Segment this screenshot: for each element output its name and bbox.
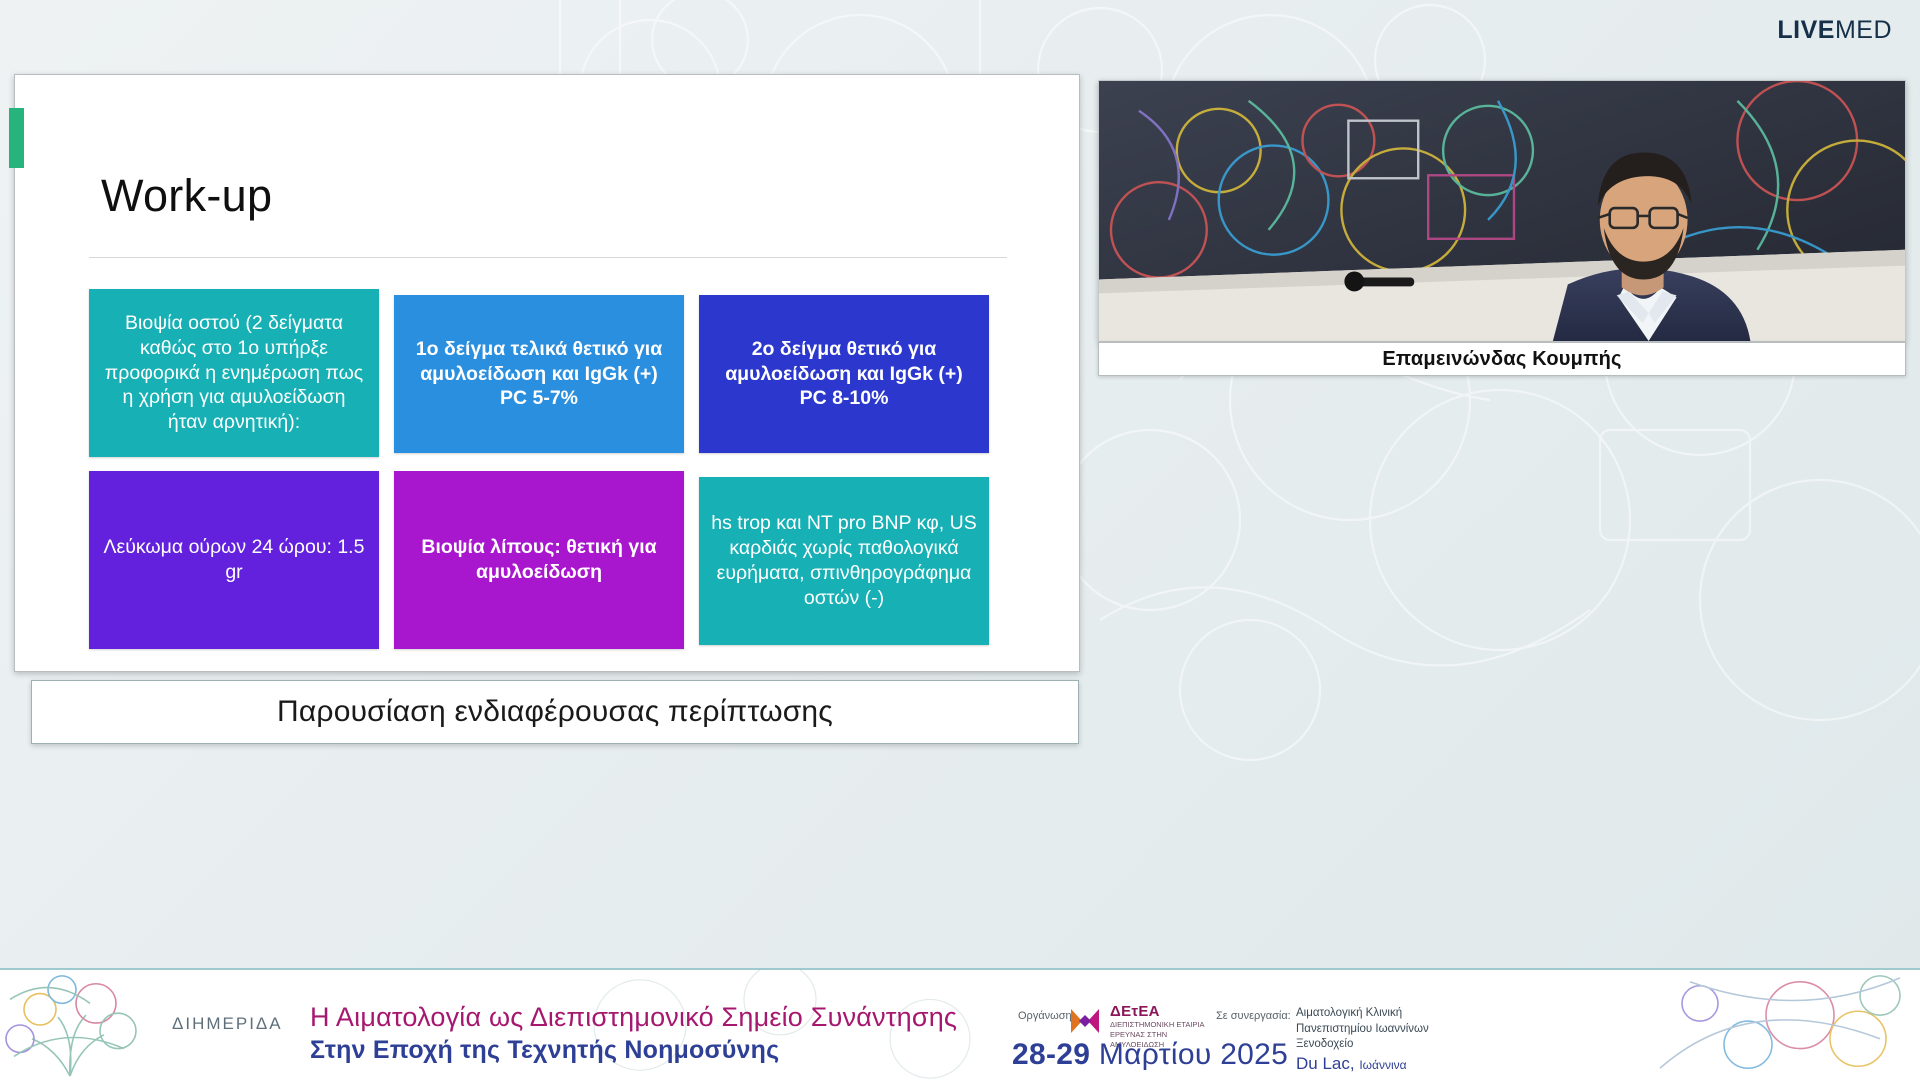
speaker-video[interactable] <box>1098 80 1906 342</box>
footer-title-line2: Στην Εποχή της Τεχνητής Νοημοσύνης <box>310 1036 779 1065</box>
footer-venue-name: Du Lac, <box>1296 1054 1355 1073</box>
logo-regular-part: MED <box>1835 16 1892 44</box>
footer-cooperation-label: Σε συνεργασία: <box>1216 1010 1291 1022</box>
workup-box-text: 2ο δείγμα θετικό για αμυλοείδωση και IgG… <box>711 337 977 412</box>
footer-decoration <box>0 970 1920 1080</box>
workup-box: Βιοψία λίπους: θετική για αμυλοείδωση <box>394 471 684 649</box>
workup-box: 1ο δείγμα τελικά θετικό για αμυλοείδωση … <box>394 295 684 453</box>
footer-organizer-label: Οργάνωση: <box>1018 1010 1075 1022</box>
footer-title-line1: Η Αιματολογία ως Διεπιστημονικό Σημείο Σ… <box>310 1002 957 1033</box>
workup-box: Βιοψία οστού (2 δείγματα καθώς στο 1ο υπ… <box>89 289 379 457</box>
footer-venue: Du Lac, Ιωάννινα <box>1296 1054 1407 1074</box>
livemed-logo: LIVEMED <box>1777 18 1892 43</box>
workup-box-text: Βιοψία λίπους: θετική για αμυλοείδωση <box>406 535 672 585</box>
workup-box-text: Βιοψία οστού (2 δείγματα καθώς στο 1ο υπ… <box>101 311 367 436</box>
logo-bold-part: LIVE <box>1777 16 1835 44</box>
session-title-bar: Παρουσίαση ενδιαφέρουσας περίπτωσης <box>31 680 1079 744</box>
workup-box-text: hs trop και NT pro BNP κφ, US καρδιάς χω… <box>711 511 977 611</box>
speaker-name-bar: Επαμεινώνδας Κουμπής <box>1098 342 1906 376</box>
slide-accent-bar <box>9 108 24 168</box>
presentation-slide[interactable]: Work-up Βιοψία οστού (2 δείγματα καθώς σ… <box>14 74 1080 672</box>
session-title: Παρουσίαση ενδιαφέρουσας περίπτωσης <box>277 695 833 729</box>
slide-title: Work-up <box>101 171 272 221</box>
footer-event-kind: ΔΙΗΜΕΡΙΔΑ <box>172 1014 283 1034</box>
workup-box-grid: Βιοψία οστού (2 δείγματα καθώς στο 1ο υπ… <box>89 289 1024 649</box>
workup-box: 2ο δείγμα θετικό για αμυλοείδωση και IgG… <box>699 295 989 453</box>
workup-box: Λεύκωμα ούρων 24 ώρου: 1.5 gr <box>89 471 379 649</box>
footer-date-range: 28-29 <box>1012 1038 1090 1071</box>
footer-venue-label: Ξενοδοχείο <box>1296 1038 1353 1050</box>
footer-dates: 28-29 Μαρτίου 2025 <box>1012 1038 1288 1072</box>
footer-month-year: Μαρτίου 2025 <box>1099 1038 1288 1071</box>
workup-box-text: 1ο δείγμα τελικά θετικό για αμυλοείδωση … <box>406 337 672 412</box>
footer-cooperation-name: Αιματολογική Κλινική Πανεπιστημίου Ιωανν… <box>1296 1005 1446 1037</box>
footer-organizer-name: ΔΕτΕΑ <box>1110 1003 1160 1020</box>
workup-box-text: Λεύκωμα ούρων 24 ώρου: 1.5 gr <box>101 535 367 585</box>
workup-box: hs trop και NT pro BNP κφ, US καρδιάς χω… <box>699 477 989 645</box>
conference-footer-banner: ΔΙΗΜΕΡΙΔΑ Η Αιματολογία ως Διεπιστημονικ… <box>0 968 1920 1080</box>
title-divider <box>89 257 1007 258</box>
footer-venue-city: Ιωάννινα <box>1359 1058 1406 1072</box>
organizer-logo-icon <box>1068 1006 1102 1036</box>
speaker-name: Επαμεινώνδας Κουμπής <box>1382 348 1621 371</box>
top-bar: LIVEMED <box>0 0 1920 70</box>
